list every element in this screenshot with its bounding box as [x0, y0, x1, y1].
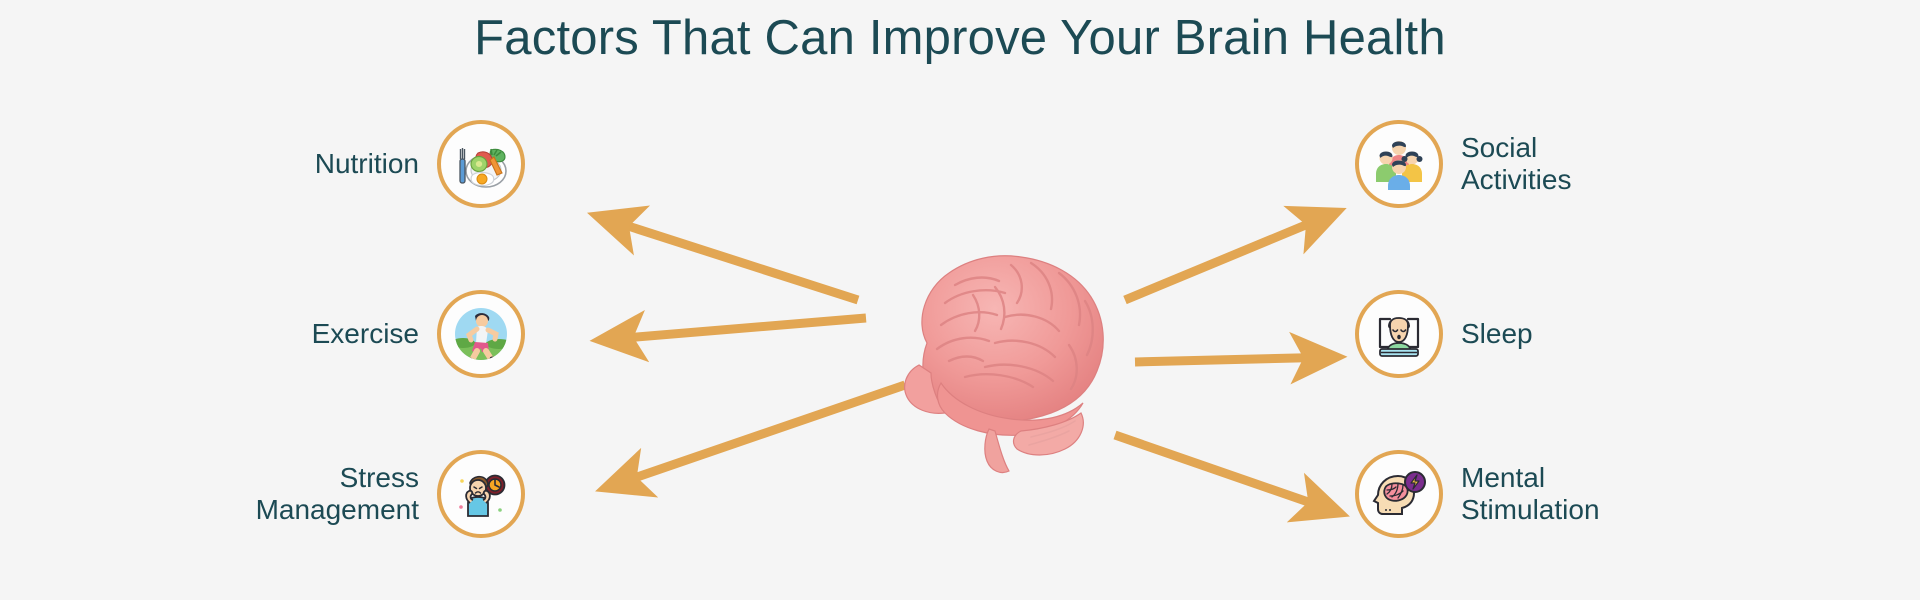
brain-lightning-head-icon	[1355, 450, 1443, 538]
sleeping-person-icon	[1355, 290, 1443, 378]
page-title: Factors That Can Improve Your Brain Heal…	[0, 10, 1920, 66]
factor-label-exercise: Exercise	[312, 318, 419, 350]
factor-mental-stimulation[interactable]: Mental Stimulation	[1355, 450, 1755, 538]
factor-social-activities[interactable]: Social Activities	[1355, 120, 1755, 208]
factor-exercise[interactable]: Exercise	[215, 290, 525, 378]
brain-health-infographic: Factors That Can Improve Your Brain Heal…	[0, 0, 1920, 600]
running-person-icon	[437, 290, 525, 378]
brain-illustration	[845, 225, 1145, 485]
arrow-brain-to-exercise	[600, 318, 866, 340]
factor-stress-management[interactable]: Stress Management	[215, 450, 525, 538]
group-of-people-icon	[1355, 120, 1443, 208]
factor-label-nutrition: Nutrition	[315, 148, 419, 180]
stressed-person-icon	[437, 450, 525, 538]
factor-label-mental-stimulation: Mental Stimulation	[1461, 462, 1600, 526]
factor-sleep[interactable]: Sleep	[1355, 290, 1755, 378]
arrow-brain-to-mental-stimulation	[1115, 435, 1340, 513]
factor-label-sleep: Sleep	[1461, 318, 1533, 350]
plate-of-food-icon	[437, 120, 525, 208]
factor-nutrition[interactable]: Nutrition	[215, 120, 525, 208]
factor-label-social-activities: Social Activities	[1461, 132, 1571, 196]
arrow-brain-to-nutrition	[597, 216, 858, 300]
arrow-brain-to-sleep	[1135, 357, 1337, 362]
factor-label-stress-management: Stress Management	[256, 462, 419, 526]
arrow-brain-to-social-activities	[1125, 212, 1337, 300]
